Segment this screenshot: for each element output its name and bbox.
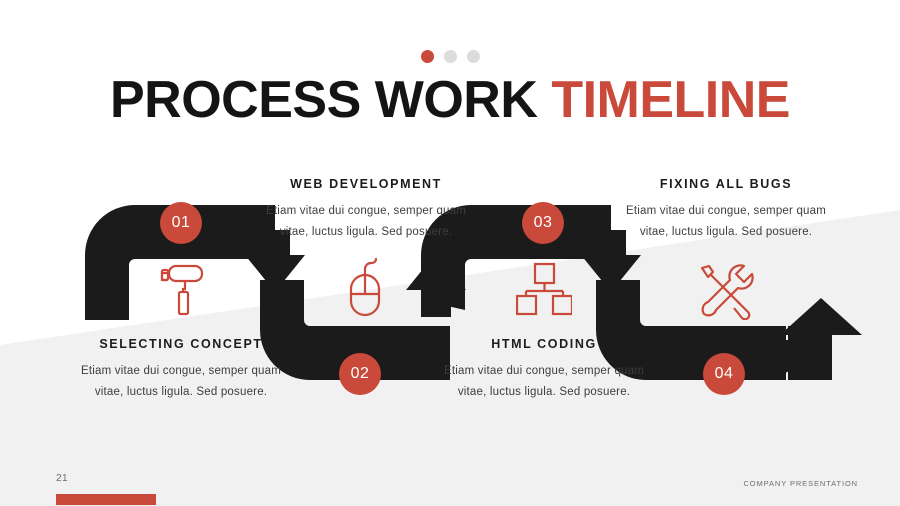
- page-title-main: PROCESS WORK: [110, 71, 551, 129]
- step-1-body: Etiam vitae dui congue, semper quam vita…: [65, 361, 297, 404]
- step-text-html-coding: HTML CODING Etiam vitae dui congue, semp…: [428, 337, 660, 404]
- step-3-body: Etiam vitae dui congue, semper quam vita…: [428, 361, 660, 404]
- page-title-accent: TIMELINE: [551, 71, 790, 129]
- step-badge-02: 02: [339, 353, 381, 395]
- step-badge-01-label: 01: [172, 214, 191, 232]
- step-text-fixing-all-bugs: FIXING ALL BUGS Etiam vitae dui congue, …: [610, 177, 842, 244]
- sitemap-icon: [516, 262, 572, 316]
- step-badge-02-label: 02: [351, 365, 370, 383]
- step-2-heading: WEB DEVELOPMENT: [250, 177, 482, 191]
- presentation-slide: PROCESS WORK TIMELINE: [0, 0, 900, 506]
- dot-1-icon[interactable]: [421, 50, 434, 63]
- step-text-web-development: WEB DEVELOPMENT Etiam vitae dui congue, …: [250, 177, 482, 244]
- wrench-screwdriver-icon: [696, 262, 756, 320]
- step-text-selecting-concept: SELECTING CONCEPT Etiam vitae dui congue…: [65, 337, 297, 404]
- dot-2-icon[interactable]: [444, 50, 457, 63]
- company-label: COMPANY PRESENTATION: [743, 479, 858, 488]
- step-2-body: Etiam vitae dui congue, semper quam vita…: [250, 201, 482, 244]
- page-title: PROCESS WORK TIMELINE: [0, 70, 900, 130]
- slide-progress-dots: [0, 50, 900, 63]
- computer-mouse-icon: [341, 258, 389, 320]
- dot-3-icon[interactable]: [467, 50, 480, 63]
- page-number: 21: [56, 473, 68, 484]
- step-badge-04-label: 04: [715, 365, 734, 383]
- step-badge-01: 01: [160, 202, 202, 244]
- step-badge-03-label: 03: [534, 214, 553, 232]
- step-4-heading: FIXING ALL BUGS: [610, 177, 842, 191]
- step-4-body: Etiam vitae dui congue, semper quam vita…: [610, 201, 842, 244]
- step-badge-04: 04: [703, 353, 745, 395]
- step-3-heading: HTML CODING: [428, 337, 660, 351]
- paint-roller-icon: [153, 258, 215, 320]
- step-1-heading: SELECTING CONCEPT: [65, 337, 297, 351]
- step-badge-03: 03: [522, 202, 564, 244]
- footer-accent-bar: [56, 494, 156, 505]
